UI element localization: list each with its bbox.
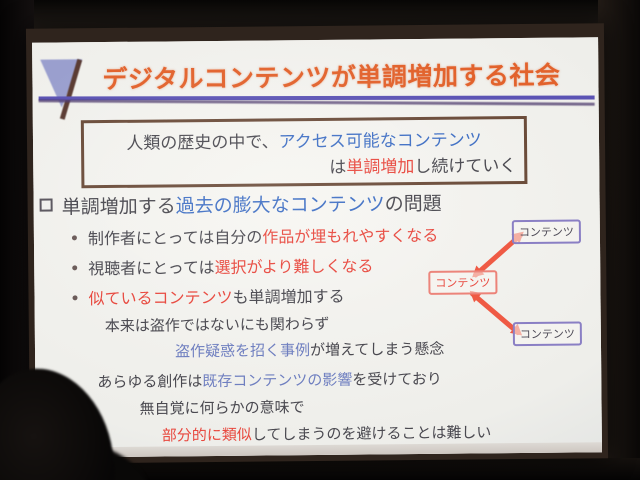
sub-line: 本来は盗作ではないにも関わらず: [105, 313, 330, 336]
dot-bullet-icon: [72, 295, 77, 300]
sub-line-5-accent: 部分的に類似: [162, 426, 252, 445]
bullet-2-dark: 視聴者にとっては: [88, 258, 215, 278]
dot-bullet-icon: [72, 235, 77, 240]
bullet-item: 視聴者にとっては選択がより難しくなる: [72, 252, 374, 279]
diagram-node-top: コンテンツ: [512, 219, 581, 244]
projected-slide-photo: デジタルコンテンツが単調増加する社会 人類の歴史の中で、アクセス可能なコンテンツ…: [0, 0, 640, 480]
boxed-line1-part-b: アクセス可能なコンテンツ: [279, 130, 482, 152]
boxed-statement-line-1: 人類の歴史の中で、アクセス可能なコンテンツ: [84, 125, 524, 154]
bullet-2-accent: 選択がより難しくなる: [215, 256, 374, 277]
bullet-3-dark: も単調増加する: [232, 287, 344, 307]
diagram-node-middle: コンテンツ: [428, 270, 497, 295]
bullet-item: 似ているコンテンツも単調増加する: [72, 283, 344, 310]
boxed-line2-part-b: 単調増加: [346, 157, 414, 178]
heading-part-a: 単調増加する: [62, 195, 176, 218]
heading-part-b: 過去の膨大なコンテンツ: [176, 193, 385, 217]
dot-bullet-icon: [72, 265, 77, 270]
boxed-line2-part-a: は: [329, 158, 346, 178]
diagram-node-bottom: コンテンツ: [513, 321, 582, 346]
sub-line-1-text: 本来は盗作ではないにも関わらず: [105, 315, 330, 335]
bullet-1-accent: 作品が埋もれやすくなる: [262, 226, 438, 247]
boxed-line2-part-c: し続けていく: [414, 156, 516, 177]
bullet-item: 制作者にとっては自分の作品が埋もれやすくなる: [72, 222, 439, 250]
sub-line-3-accent: 既存コンテンツの影響: [202, 371, 352, 390]
projection-screen-frame: デジタルコンテンツが単調増加する社会 人類の歴史の中で、アクセス可能なコンテンツ…: [26, 23, 608, 464]
sub-line-4-text: 無自覚に何らかの意味で: [139, 398, 304, 418]
boxed-line1-part-a: 人類の歴史の中で、: [126, 132, 279, 153]
heading-part-c: の問題: [385, 193, 442, 216]
boxed-statement: 人類の歴史の中で、アクセス可能なコンテンツ は単調増加し続けていく: [81, 116, 528, 188]
title-underline-rule-secondary: [39, 99, 595, 105]
sub-line: 盗作疑惑を招く事例が増えてしまう懸念: [175, 338, 444, 362]
sub-line: あらゆる創作は既存コンテンツの影響を受けており: [97, 368, 442, 392]
sub-line-2-accent: 盗作疑惑を招く事例: [175, 341, 310, 360]
slide-title: デジタルコンテンツが単調増加する社会: [102, 56, 572, 97]
bullet-3-accent: 似ているコンテンツ: [88, 288, 232, 308]
sub-line-3-rest: を受けており: [352, 370, 442, 389]
square-bullet-icon: [40, 199, 53, 212]
projection-screen: デジタルコンテンツが単調増加する社会 人類の歴史の中で、アクセス可能なコンテンツ…: [32, 37, 602, 457]
bullet-1-dark: 制作者にとっては自分の: [88, 228, 263, 249]
sub-line-5-rest: してしまうのを避けることは難しい: [252, 423, 492, 443]
boxed-statement-line-2: は単調増加し続けていく: [84, 151, 524, 180]
content-similarity-diagram: コンテンツ コンテンツ コンテンツ: [426, 217, 599, 354]
section-heading: 単調増加する過去の膨大なコンテンツの問題: [39, 188, 509, 220]
slide-canvas: デジタルコンテンツが単調増加する社会 人類の歴史の中で、アクセス可能なコンテンツ…: [32, 37, 602, 457]
sub-line-3-lead: あらゆる創作は: [97, 372, 202, 391]
sub-line: 無自覚に何らかの意味で: [139, 396, 304, 419]
sub-line-2-rest: が増えてしまう懸念: [310, 340, 444, 359]
sub-line: 部分的に類似してしまうのを避けることは難しい: [162, 421, 492, 445]
